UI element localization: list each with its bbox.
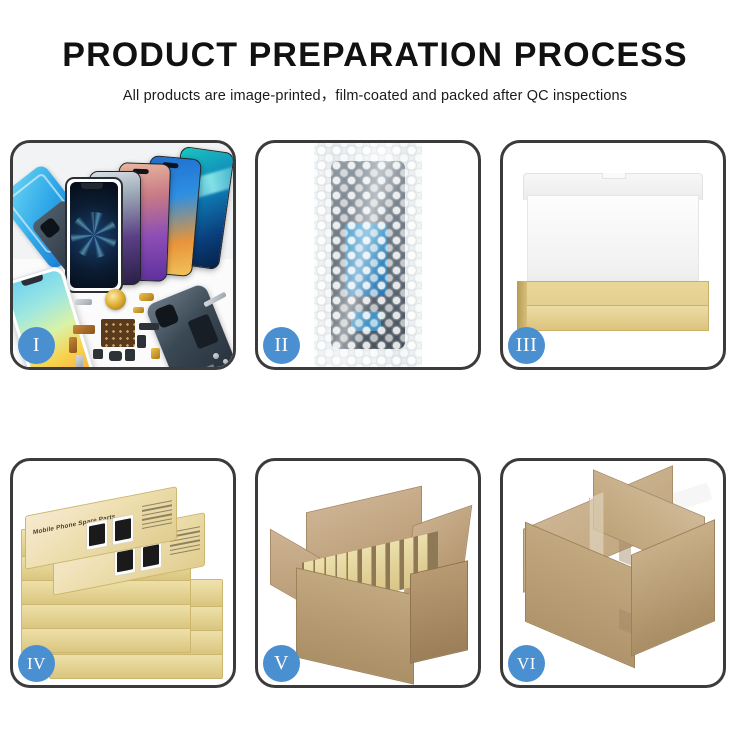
process-step-card-6[interactable]: VI [500,458,726,688]
step-badge-3: III [508,327,545,364]
small-part-5 [76,355,83,367]
flex-cable-part-2 [69,337,77,353]
carton-side-face [410,560,468,663]
front-glass-panel [65,177,123,293]
kraft-tray-side [517,281,527,329]
open-master-carton [270,485,470,669]
phone-lineup [65,149,233,289]
small-part-4 [93,349,103,359]
step-badge-6: VI [508,645,545,682]
connector-part-1 [75,299,92,305]
page-title: PRODUCT PREPARATION PROCESS [0,0,750,75]
screw-part-1 [213,353,219,359]
small-part-2 [109,351,122,361]
inner-box [517,173,709,341]
step-badge-2: II [263,327,300,364]
flex-cable-part-1 [73,325,95,334]
page-header: PRODUCT PREPARATION PROCESS All products… [0,0,750,105]
small-part-6 [151,348,160,359]
bubble-wrap-sleeve [314,143,422,367]
process-step-card-2[interactable]: II [255,140,481,370]
screw-part-2 [223,359,228,364]
connector-part-2 [139,293,154,301]
process-step-card-3[interactable]: III [500,140,726,370]
screw-tray-part [101,319,135,347]
retail-box [21,601,191,629]
kraft-tray-front [517,305,709,331]
process-step-grid: I II [10,140,740,688]
process-step-card-4[interactable]: Mobile Phone Spare Parts Mobile Phone Sp… [10,458,236,688]
page-subtitle: All products are image-printed，film-coat… [0,75,750,105]
sealed-master-carton [515,487,713,671]
connector-part-3 [133,307,144,313]
box-window-1 [86,519,108,551]
box-window-2 [112,514,134,546]
process-step-card-5[interactable]: V [255,458,481,688]
film-sheen [314,143,422,367]
speaker-coil-part [105,289,126,310]
process-step-card-1[interactable]: I [10,140,236,370]
flex-cable-part-3 [139,323,159,330]
box-spec-lines [142,500,172,538]
step-badge-5: V [263,645,300,682]
small-part-1 [137,335,146,348]
step-badge-4: IV [18,645,55,682]
retail-box [49,651,223,679]
step-badge-1: I [18,327,55,364]
small-part-3 [125,349,135,361]
